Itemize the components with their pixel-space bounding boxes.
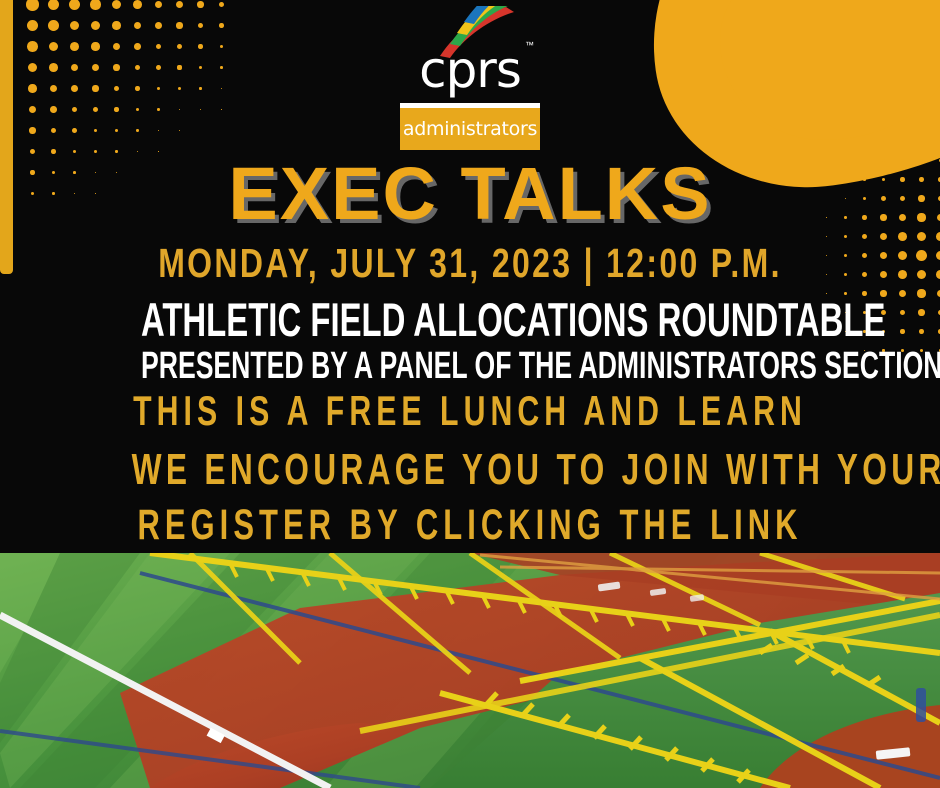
event-presenter-line: PRESENTED BY A PANEL OF THE ADMINISTRATO…	[141, 346, 799, 387]
halftone-dot	[936, 232, 940, 241]
halftone-dot	[155, 1, 163, 9]
halftone-dot	[71, 64, 79, 72]
halftone-dot	[135, 65, 141, 71]
halftone-dot	[826, 236, 827, 237]
halftone-dot	[155, 22, 162, 29]
halftone-dot	[93, 107, 98, 112]
halftone-dot	[917, 270, 927, 280]
halftone-dot	[936, 251, 940, 260]
halftone-dot	[898, 270, 907, 279]
halftone-dot	[91, 42, 99, 50]
halftone-dot	[51, 128, 56, 133]
halftone-dot	[49, 63, 58, 72]
halftone-dot	[27, 20, 38, 31]
halftone-dot	[844, 273, 847, 276]
halftone-dot	[134, 22, 142, 30]
halftone-dot	[28, 63, 37, 72]
halftone-dot	[179, 109, 181, 111]
halftone-dot	[157, 87, 161, 91]
halftone-dot	[220, 66, 223, 69]
halftone-dot	[917, 232, 927, 242]
cta-line-join-colleagues: WE ENCOURAGE YOU TO JOIN WITH YOUR COLLE…	[132, 446, 809, 494]
halftone-dot	[179, 130, 180, 131]
halftone-dot	[199, 87, 201, 89]
field-illustration	[0, 553, 940, 788]
halftone-dot	[92, 85, 98, 91]
halftone-dot	[134, 43, 141, 50]
halftone-dot	[92, 64, 99, 71]
halftone-dot	[219, 2, 225, 8]
halftone-dot	[49, 42, 59, 52]
cta-line-register[interactable]: REGISTER BY CLICKING THE LINK	[132, 502, 809, 549]
event-dateline: MONDAY, JULY 31, 2023 | 12:00 P.M.	[103, 240, 836, 286]
halftone-dot	[72, 107, 78, 113]
cprs-wordmark: cprs	[400, 40, 540, 100]
halftone-dot	[94, 150, 97, 153]
halftone-dot	[94, 129, 98, 133]
logo-band-label: administrators	[400, 108, 540, 150]
halftone-dot	[51, 149, 55, 153]
cprs-logo: cprs ™ administrators	[400, 2, 540, 150]
halftone-dot	[900, 310, 906, 316]
halftone-dot	[115, 150, 117, 152]
halftone-dot	[158, 130, 160, 132]
halftone-dot	[71, 85, 78, 92]
halftone-dot	[50, 85, 58, 93]
halftone-dot	[72, 128, 77, 133]
halftone-dot	[115, 129, 118, 132]
halftone-dot	[936, 270, 940, 279]
halftone-dot	[899, 290, 907, 298]
halftone-dot	[48, 0, 60, 10]
halftone-dot	[26, 0, 39, 11]
gold-blob-top-right-secondary	[720, 0, 940, 140]
halftone-dot	[50, 106, 57, 113]
halftone-dot	[48, 20, 59, 31]
halftone-dot	[198, 44, 202, 48]
aerial-sports-field-photo	[0, 553, 940, 788]
halftone-dot	[862, 272, 867, 277]
halftone-dot	[198, 23, 203, 28]
halftone-dot	[114, 86, 119, 91]
halftone-dot	[114, 107, 118, 111]
halftone-dot	[178, 87, 181, 90]
halftone-dot	[112, 0, 121, 9]
halftone-dot	[917, 289, 925, 297]
halftone-dot	[918, 309, 924, 315]
halftone-dot	[27, 41, 37, 51]
halftone-dot	[136, 108, 139, 111]
halftone-dot	[900, 329, 904, 333]
halftone-dot	[902, 141, 903, 142]
halftone-dot	[30, 149, 35, 154]
halftone-dot	[919, 329, 924, 334]
page-title: EXEC TALKS	[0, 157, 940, 231]
halftone-dot	[28, 84, 36, 92]
cta-line-free-lunch: THIS IS A FREE LUNCH AND LEARN	[132, 388, 809, 434]
halftone-dot	[29, 127, 35, 133]
halftone-dot	[157, 108, 160, 111]
halftone-dot	[844, 235, 847, 238]
halftone-dot	[219, 23, 224, 28]
halftone-dot	[69, 0, 80, 10]
halftone-dot	[133, 0, 142, 9]
halftone-dot	[176, 1, 183, 8]
event-headline: ATHLETIC FIELD ALLOCATIONS ROUNDTABLE	[141, 295, 799, 345]
halftone-dot	[898, 232, 907, 241]
trademark-symbol: ™	[525, 40, 534, 50]
halftone-dot	[136, 129, 138, 131]
halftone-dot	[200, 109, 201, 110]
halftone-dot	[156, 44, 162, 50]
halftone-dot	[197, 1, 203, 7]
halftone-dot	[135, 86, 140, 91]
halftone-dot	[862, 234, 867, 239]
halftone-dot	[113, 43, 120, 50]
gold-vertical-bar	[0, 0, 13, 274]
halftone-dot	[880, 271, 887, 278]
halftone-dot	[916, 250, 928, 262]
halftone-dot	[112, 21, 120, 29]
halftone-dot	[880, 233, 887, 240]
halftone-dot	[70, 21, 80, 31]
halftone-dot	[898, 251, 907, 260]
halftone-dot	[880, 252, 887, 259]
halftone-dot	[73, 150, 77, 154]
logo-gold-band: administrators	[400, 108, 540, 150]
halftone-dot	[220, 45, 224, 49]
halftone-dot	[70, 42, 79, 51]
halftone-dot	[176, 22, 182, 28]
halftone-dot	[221, 88, 222, 89]
halftone-dot	[177, 65, 181, 69]
flyer-poster: cprs ™ administrators EXEC TALKS MONDAY,…	[0, 0, 940, 788]
halftone-dot	[29, 106, 36, 113]
halftone-dot	[844, 254, 847, 257]
halftone-dot	[199, 66, 202, 69]
halftone-dot	[158, 151, 159, 152]
halftone-dot	[156, 65, 161, 70]
halftone-dot	[91, 21, 100, 30]
halftone-dot	[137, 151, 138, 152]
halftone-dot	[113, 64, 119, 70]
halftone-dot	[862, 253, 867, 258]
halftone-dot	[177, 44, 182, 49]
halftone-dot	[90, 0, 100, 10]
halftone-dot	[921, 141, 922, 142]
